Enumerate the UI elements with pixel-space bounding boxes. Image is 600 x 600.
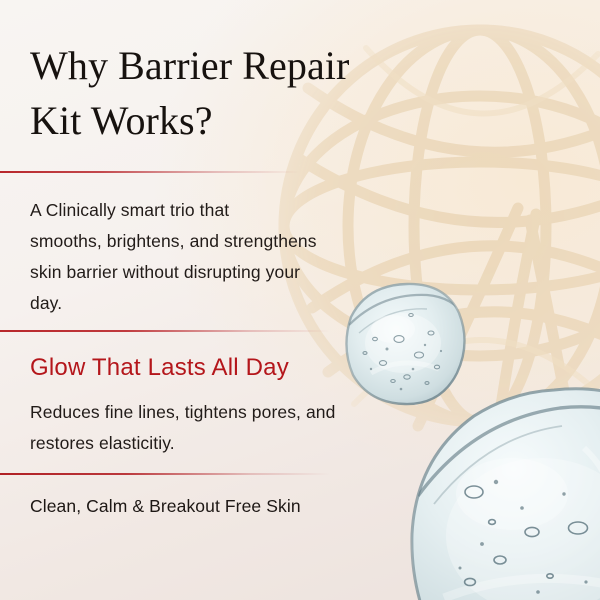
- benefit-paragraph: Reduces fine lines, tightens pores, and …: [30, 397, 350, 459]
- page-title: Why Barrier Repair Kit Works?: [30, 38, 450, 148]
- divider-top: [0, 171, 300, 173]
- poster-content: Why Barrier Repair Kit Works? A Clinical…: [0, 0, 600, 600]
- accent-heading: Glow That Lasts All Day: [30, 353, 289, 383]
- intro-paragraph: A Clinically smart trio that smooths, br…: [30, 195, 360, 319]
- closing-line: Clean, Calm & Breakout Free Skin: [30, 493, 301, 519]
- divider-bottom: [0, 473, 330, 475]
- promo-poster: Why Barrier Repair Kit Works? A Clinical…: [0, 0, 600, 600]
- divider-middle: [0, 330, 330, 332]
